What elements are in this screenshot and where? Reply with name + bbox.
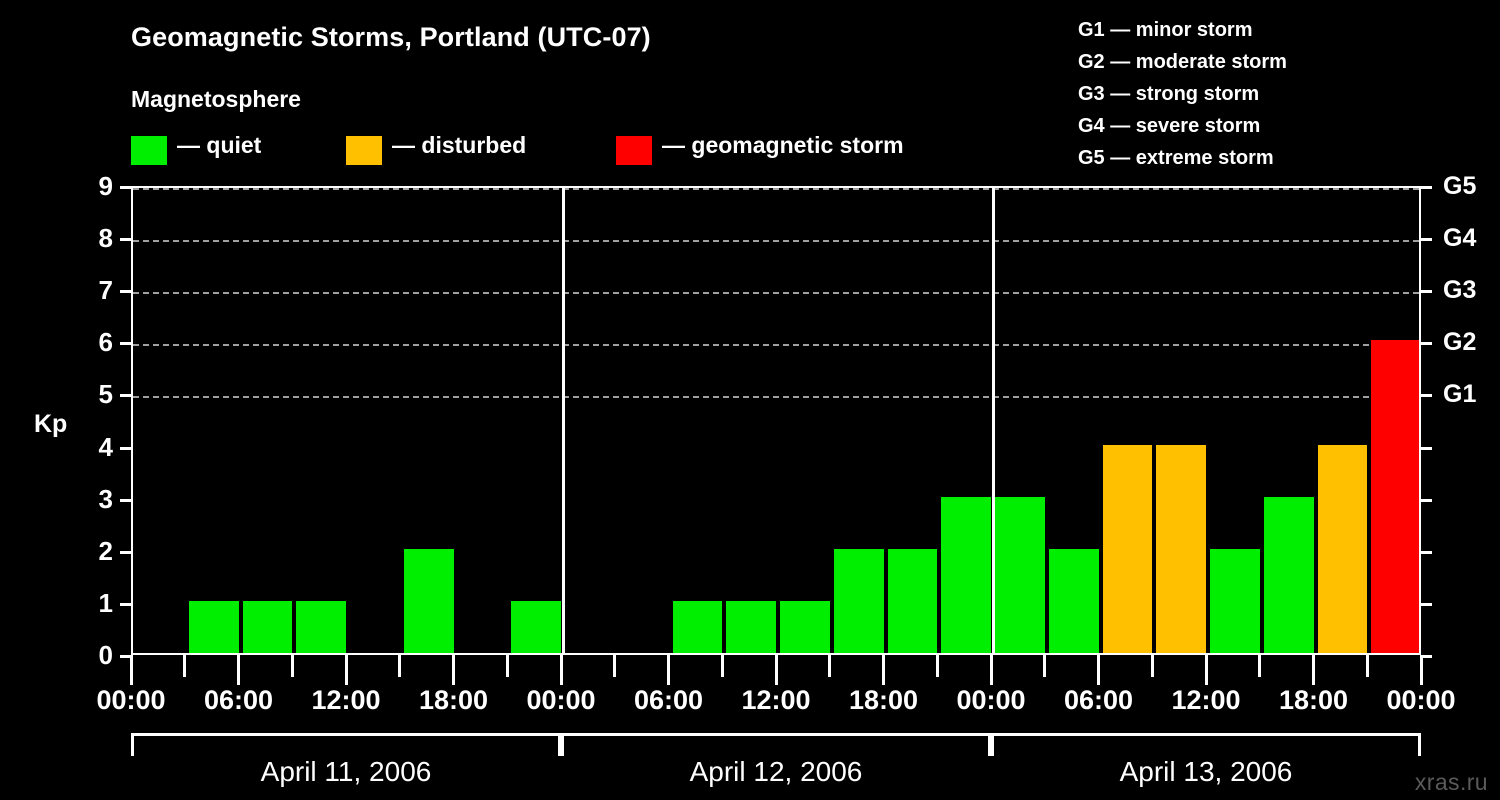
g-tick-label-G5: G5 <box>1443 174 1500 199</box>
bar-kp[interactable] <box>995 497 1045 653</box>
x-tick-3 <box>291 655 294 677</box>
bar-kp[interactable] <box>1318 445 1368 653</box>
g-tick-G4 <box>1421 238 1432 241</box>
g-tick-G5 <box>1421 186 1432 189</box>
page-title: Geomagnetic Storms, Portland (UTC-07) <box>131 22 651 53</box>
x-tick-11 <box>721 655 724 677</box>
x-tick-2 <box>237 655 240 685</box>
bar-kp[interactable] <box>726 601 776 653</box>
x-tick-0 <box>130 655 133 685</box>
plot-area <box>131 186 1421 655</box>
y-tick-label-3: 3 <box>73 486 113 512</box>
legend-label-geomagnetic-storm: — geomagnetic storm <box>662 132 904 159</box>
y-tick-label-0: 0 <box>73 642 113 668</box>
bar-kp[interactable] <box>1049 549 1099 653</box>
x-tick-label-12: 00:00 <box>1351 685 1491 716</box>
y-tick-label-1: 1 <box>73 590 113 616</box>
bar-kp[interactable] <box>1103 445 1153 653</box>
y-tick-label-2: 2 <box>73 538 113 564</box>
g-tick-label-G4: G4 <box>1443 226 1500 251</box>
x-tick-14 <box>882 655 885 685</box>
x-tick-23 <box>1366 655 1369 677</box>
day-label-3: April 13, 2006 <box>991 756 1421 788</box>
bar-kp[interactable] <box>780 601 830 653</box>
bar-kp[interactable] <box>1156 445 1206 653</box>
day-separator-1 <box>562 188 565 653</box>
chart-root: Geomagnetic Storms, Portland (UTC-07) Ma… <box>0 0 1500 800</box>
x-tick-15 <box>936 655 939 677</box>
y-tick-8 <box>120 238 131 241</box>
bar-kp[interactable] <box>404 549 454 653</box>
day-bracket-3 <box>991 733 1421 753</box>
bar-kp[interactable] <box>296 601 346 653</box>
x-tick-7 <box>506 655 509 677</box>
bar-kp[interactable] <box>941 497 991 653</box>
g-scale-line-4: G4 — severe storm <box>1078 110 1408 142</box>
x-tick-16 <box>990 655 993 685</box>
y-axis-title: Kp <box>34 410 67 439</box>
x-tick-13 <box>828 655 831 677</box>
bar-kp[interactable] <box>1264 497 1314 653</box>
x-tick-19 <box>1151 655 1154 677</box>
day-bracket-1 <box>131 733 561 753</box>
g-axis-minor-tick-4 <box>1421 447 1432 450</box>
g-tick-label-G2: G2 <box>1443 330 1500 355</box>
y-tick-label-8: 8 <box>73 225 113 251</box>
x-tick-10 <box>667 655 670 685</box>
x-tick-1 <box>183 655 186 677</box>
x-tick-9 <box>613 655 616 677</box>
g-axis-minor-tick-1 <box>1421 603 1432 606</box>
g-scale-line-5: G5 — extreme storm <box>1078 142 1408 174</box>
bar-kp[interactable] <box>834 549 884 653</box>
day-label-1: April 11, 2006 <box>131 756 561 788</box>
day-label-2: April 12, 2006 <box>561 756 991 788</box>
x-tick-4 <box>345 655 348 685</box>
y-tick-2 <box>120 551 131 554</box>
x-tick-18 <box>1097 655 1100 685</box>
x-tick-12 <box>775 655 778 685</box>
bar-kp[interactable] <box>243 601 293 653</box>
x-tick-22 <box>1312 655 1315 685</box>
bar-kp[interactable] <box>1371 340 1419 653</box>
g-scale-legend: G1 — minor stormG2 — moderate stormG3 — … <box>1078 14 1408 174</box>
g-scale-line-2: G2 — moderate storm <box>1078 46 1408 78</box>
legend-label-disturbed: — disturbed <box>392 132 526 159</box>
g-tick-label-G3: G3 <box>1443 278 1500 303</box>
x-tick-5 <box>398 655 401 677</box>
g-tick-G2 <box>1421 342 1432 345</box>
day-separator-2 <box>992 188 995 653</box>
bar-kp[interactable] <box>189 601 239 653</box>
legend-swatch-quiet-icon <box>131 136 167 165</box>
legend-label-quiet: — quiet <box>177 132 261 159</box>
legend-swatch-geomagnetic-storm-icon <box>616 136 652 165</box>
y-tick-9 <box>120 186 131 189</box>
series-group-label: Magnetosphere <box>131 86 301 113</box>
g-axis-minor-tick-3 <box>1421 499 1432 502</box>
x-tick-24 <box>1420 655 1423 685</box>
y-tick-6 <box>120 342 131 345</box>
y-tick-label-6: 6 <box>73 329 113 355</box>
g-scale-line-3: G3 — strong storm <box>1078 78 1408 110</box>
bar-kp[interactable] <box>511 601 561 653</box>
g-scale-line-1: G1 — minor storm <box>1078 14 1408 46</box>
g-tick-G1 <box>1421 394 1432 397</box>
y-tick-5 <box>120 394 131 397</box>
x-tick-6 <box>452 655 455 685</box>
x-tick-21 <box>1258 655 1261 677</box>
x-tick-20 <box>1205 655 1208 685</box>
x-tick-17 <box>1043 655 1046 677</box>
legend-swatch-disturbed-icon <box>346 136 382 165</box>
y-tick-label-7: 7 <box>73 277 113 303</box>
g-axis-minor-tick-2 <box>1421 551 1432 554</box>
y-tick-3 <box>120 499 131 502</box>
g-axis-minor-tick-0 <box>1421 655 1432 658</box>
y-tick-label-5: 5 <box>73 381 113 407</box>
y-tick-label-9: 9 <box>73 173 113 199</box>
day-bracket-2 <box>561 733 991 753</box>
y-tick-4 <box>120 447 131 450</box>
bars-layer <box>133 188 1419 653</box>
bar-kp[interactable] <box>888 549 938 653</box>
g-tick-G3 <box>1421 290 1432 293</box>
y-tick-7 <box>120 290 131 293</box>
g-tick-label-G1: G1 <box>1443 382 1500 407</box>
bar-kp[interactable] <box>1210 549 1260 653</box>
y-tick-1 <box>120 603 131 606</box>
x-tick-8 <box>560 655 563 685</box>
bar-kp[interactable] <box>673 601 723 653</box>
y-tick-label-4: 4 <box>73 434 113 460</box>
watermark: xras.ru <box>1415 769 1488 796</box>
